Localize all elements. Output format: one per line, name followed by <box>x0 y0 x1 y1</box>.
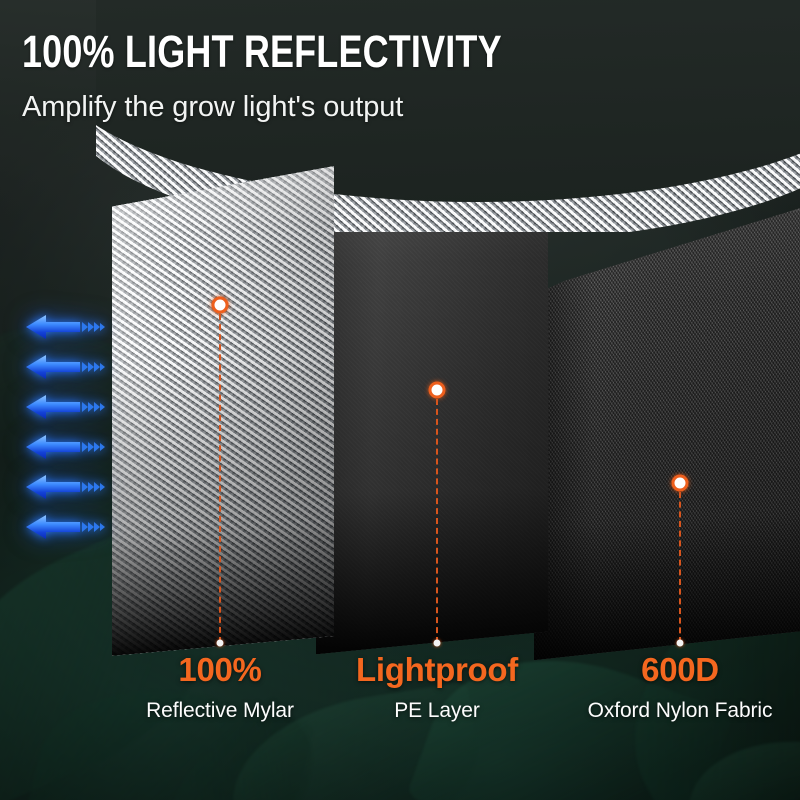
label-caption: Reflective Mylar <box>100 699 340 722</box>
callout-end-dot <box>217 640 224 647</box>
label-headline: 100% <box>100 652 340 688</box>
label-pe-layer: Lightproof PE Layer <box>317 652 557 722</box>
layer-labels: 100% Reflective Mylar Lightproof PE Laye… <box>0 652 800 742</box>
label-headline: Lightproof <box>317 652 557 688</box>
callout-leader-line <box>436 399 438 643</box>
label-caption: Oxford Nylon Fabric <box>552 699 800 722</box>
callout-leader-line <box>679 492 681 643</box>
page-title: 100% LIGHT REFLECTIVITY <box>22 30 502 74</box>
callout-marker-dot[interactable] <box>672 475 689 492</box>
label-oxford-nylon-fabric: 600D Oxford Nylon Fabric <box>552 652 800 722</box>
label-caption: PE Layer <box>317 699 557 722</box>
callout-end-dot <box>434 640 441 647</box>
callout-end-dot <box>677 640 684 647</box>
label-reflective-mylar: 100% Reflective Mylar <box>100 652 340 722</box>
label-headline: 600D <box>552 652 800 688</box>
callout-leader-line <box>219 314 221 643</box>
callout-marker-dot[interactable] <box>429 382 446 399</box>
header: 100% LIGHT REFLECTIVITY Amplify the grow… <box>22 30 622 123</box>
callout-marker-dot[interactable] <box>212 297 229 314</box>
page-subtitle: Amplify the grow light's output <box>22 92 622 123</box>
